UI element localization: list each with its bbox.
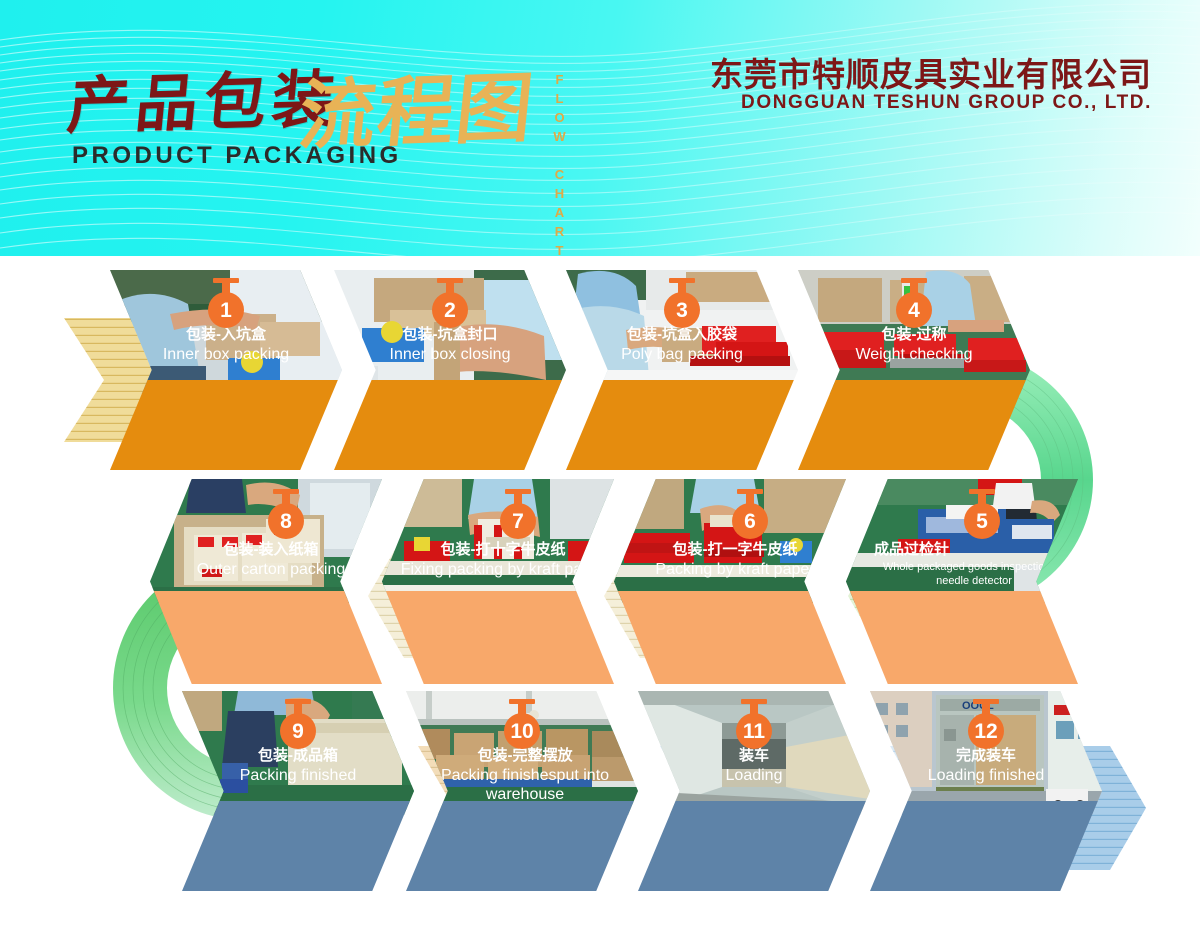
flow-step-12[interactable]: OOCL 12 完成装车 bbox=[870, 691, 1102, 891]
badge-stem-icon bbox=[741, 699, 767, 704]
flow-row-2: 8 包装-装入纸箱 Outer carton packing bbox=[0, 479, 1200, 684]
flow-step-3[interactable]: 3 包装-坑盒入胶袋 Poly bag packing bbox=[566, 270, 798, 470]
step-number-7: 7 bbox=[512, 511, 524, 532]
step-number-badge-11: 11 bbox=[736, 713, 772, 749]
step-number-badge-1: 1 bbox=[208, 292, 244, 328]
step-label-cn-9: 包装-成品箱 bbox=[182, 747, 414, 766]
step-label-cn-4: 包装-过称 bbox=[798, 326, 1030, 345]
step-label-en-2: Inner box closing bbox=[334, 345, 566, 364]
badge-stem-icon bbox=[285, 699, 311, 704]
step-number-3: 3 bbox=[676, 300, 688, 321]
step-label-cn-3: 包装-坑盒入胶袋 bbox=[566, 326, 798, 345]
step-number-badge-3: 3 bbox=[664, 292, 700, 328]
step-band-11 bbox=[638, 801, 870, 891]
flow-step-8[interactable]: 8 包装-装入纸箱 Outer carton packing bbox=[150, 479, 382, 684]
step-number-8: 8 bbox=[280, 511, 292, 532]
step-label-cn-6: 包装-打一字牛皮纸 bbox=[626, 541, 844, 560]
step-label-cn-12: 完成装车 bbox=[870, 747, 1102, 766]
step-band-7 bbox=[382, 591, 614, 684]
step-label-en-7: Fixing packing by kraft paper bbox=[398, 560, 608, 579]
flow-step-9[interactable]: 9 包装-成品箱 Packing finished bbox=[182, 691, 414, 891]
flow-step-1[interactable]: 1 包装-入坑盒 Inner box packing bbox=[110, 270, 342, 470]
step-band-9 bbox=[182, 801, 414, 891]
badge-stem-icon bbox=[273, 489, 299, 494]
badge-stem-icon bbox=[737, 489, 763, 494]
step-number-badge-9: 9 bbox=[280, 713, 316, 749]
step-label-en-10: Packing finishesput into warehouse bbox=[412, 766, 638, 804]
step-band-4 bbox=[798, 380, 1030, 470]
step-number-badge-4: 4 bbox=[896, 292, 932, 328]
step-band-3 bbox=[566, 380, 798, 470]
step-number-badge-8: 8 bbox=[268, 503, 304, 539]
step-label-en-5: Whole packaged goods inspection by needl… bbox=[852, 560, 1074, 589]
step-band-8 bbox=[150, 591, 382, 684]
step-number-4: 4 bbox=[908, 300, 920, 321]
step-number-12: 12 bbox=[974, 721, 997, 742]
badge-stem-icon bbox=[505, 489, 531, 494]
step-number-11: 11 bbox=[743, 721, 765, 742]
header-banner: 产品包装 PRODUCT PACKAGING 流程图 FLOW CHART 东莞… bbox=[0, 0, 1200, 256]
step-band-10 bbox=[406, 801, 638, 891]
flow-step-4[interactable]: 4 包装-过称 Weight checking bbox=[798, 270, 1030, 470]
step-label-en-3: Poly bag packing bbox=[566, 345, 798, 364]
step-number-10: 10 bbox=[510, 721, 533, 742]
step-number-badge-10: 10 bbox=[504, 713, 540, 749]
step-number-5: 5 bbox=[976, 511, 988, 532]
step-label-en-8: Outer carton packing bbox=[160, 560, 382, 579]
step-label-cn-2: 包装-坑盒封口 bbox=[334, 326, 566, 345]
step-number-badge-2: 2 bbox=[432, 292, 468, 328]
step-band-12 bbox=[870, 801, 1102, 891]
step-number-badge-7: 7 bbox=[500, 503, 536, 539]
step-label-cn-8: 包装-装入纸箱 bbox=[160, 541, 382, 560]
step-label-cn-10: 包装-完整摆放 bbox=[412, 747, 638, 766]
badge-stem-icon bbox=[509, 699, 535, 704]
flow-row-1: 1 包装-入坑盒 Inner box packing bbox=[0, 270, 1200, 470]
step-band-2 bbox=[334, 380, 566, 470]
step-number-6: 6 bbox=[744, 511, 756, 532]
flow-row-3: 9 包装-成品箱 Packing finished bbox=[0, 691, 1200, 891]
badge-stem-icon bbox=[901, 278, 927, 283]
step-label-cn-11: 装车 bbox=[638, 747, 870, 766]
step-band-5 bbox=[846, 591, 1078, 684]
flow-step-11[interactable]: 11 装车 Loading bbox=[638, 691, 870, 891]
flow-step-7[interactable]: 7 包装-打十字牛皮纸 Fixing packing by kraft pape… bbox=[382, 479, 614, 684]
step-label-en-4: Weight checking bbox=[798, 345, 1030, 364]
step-label-en-9: Packing finished bbox=[182, 766, 414, 785]
step-label-cn-1: 包装-入坑盒 bbox=[110, 326, 342, 345]
badge-stem-icon bbox=[669, 278, 695, 283]
step-number-badge-5: 5 bbox=[964, 503, 1000, 539]
badge-stem-icon bbox=[213, 278, 239, 283]
step-label-en-6: Packing by kraft paper bbox=[626, 560, 844, 579]
banner-title-gold-chinese: 流程图 bbox=[295, 70, 538, 154]
step-number-badge-12: 12 bbox=[968, 713, 1004, 749]
company-name-chinese: 东莞市特顺皮具实业有限公司 bbox=[710, 48, 1152, 96]
step-number-2: 2 bbox=[444, 300, 456, 321]
step-label-en-11: Loading bbox=[638, 766, 870, 785]
step-number-1: 1 bbox=[220, 300, 232, 321]
step-label-en-1: Inner box packing bbox=[110, 345, 342, 364]
step-number-9: 9 bbox=[292, 721, 304, 742]
flow-chart-vertical-label: FLOW CHART bbox=[552, 72, 567, 256]
badge-stem-icon bbox=[973, 699, 999, 704]
flow-step-5[interactable]: 5 成品过检针 Whole packaged goods inspection … bbox=[846, 479, 1078, 684]
step-label-en-12: Loading finished bbox=[870, 766, 1102, 785]
flow-step-10[interactable]: 10 包装-完整摆放 Packing finishesput into ware… bbox=[406, 691, 638, 891]
flow-step-6[interactable]: 6 包装-打一字牛皮纸 Packing by kraft paper bbox=[614, 479, 846, 684]
company-name-english: DONGGUAN TESHUN GROUP CO., LTD. bbox=[741, 92, 1152, 114]
badge-stem-icon bbox=[969, 489, 995, 494]
flow-step-2[interactable]: 2 包装-坑盒封口 Inner box closing bbox=[334, 270, 566, 470]
step-label-cn-5: 成品过检针 bbox=[852, 541, 1074, 560]
badge-stem-icon bbox=[437, 278, 463, 283]
flow-chart-body: 1 包装-入坑盒 Inner box packing bbox=[0, 256, 1200, 927]
step-band-1 bbox=[110, 380, 342, 470]
step-number-badge-6: 6 bbox=[732, 503, 768, 539]
step-band-6 bbox=[614, 591, 846, 684]
step-label-cn-7: 包装-打十字牛皮纸 bbox=[398, 541, 608, 560]
